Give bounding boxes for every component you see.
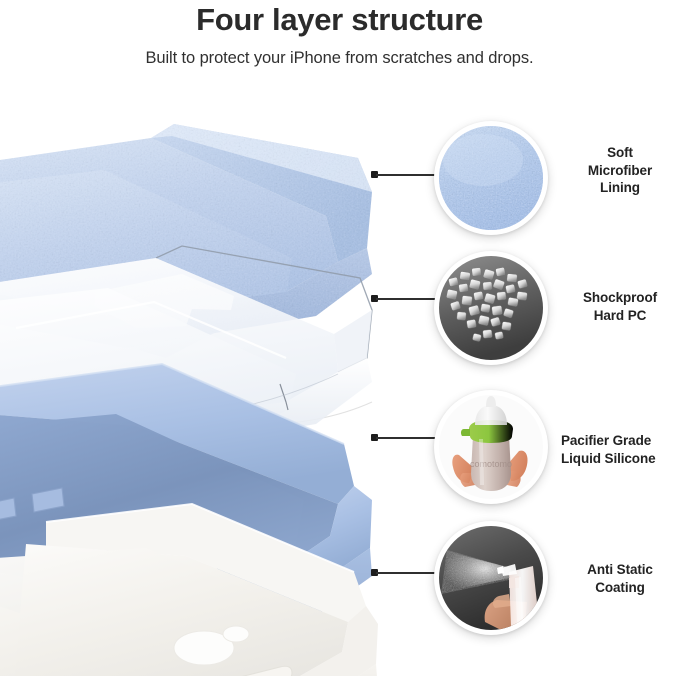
label-line: Coating (564, 579, 676, 597)
page-title: Four layer structure (0, 0, 679, 40)
exploded-phone-case-illustration (0, 96, 386, 676)
label-line: Soft (564, 144, 676, 162)
label-line: Hard PC (564, 307, 676, 325)
callout-label-anti-static-coating: Anti Static Coating (564, 561, 676, 596)
label-line: Pacifier Grade (561, 432, 679, 450)
page-subtitle: Built to protect your iPhone from scratc… (0, 46, 679, 70)
pc-pellets-thumbnail[interactable] (434, 251, 548, 365)
callout-label-pacifier-grade-liquid-silicone: Pacifier Grade Liquid Silicone (561, 432, 679, 467)
callout-label-soft-microfiber-lining: Soft Microfiber Lining (564, 144, 676, 197)
label-line: Anti Static (564, 561, 676, 579)
label-line: Liquid Silicone (561, 450, 679, 468)
baby-bottle-thumbnail[interactable]: comotomo (434, 390, 548, 504)
svg-text:comotomo: comotomo (470, 459, 512, 469)
anti-static-coating-layer (0, 96, 386, 676)
label-line: Microfiber (564, 162, 676, 180)
label-line: Lining (564, 179, 676, 197)
microfiber-texture-thumbnail[interactable] (434, 121, 548, 235)
callout-label-shockproof-hard-pc: Shockproof Hard PC (564, 289, 676, 324)
label-line: Shockproof (564, 289, 676, 307)
spray-bottle-thumbnail[interactable] (434, 521, 548, 635)
